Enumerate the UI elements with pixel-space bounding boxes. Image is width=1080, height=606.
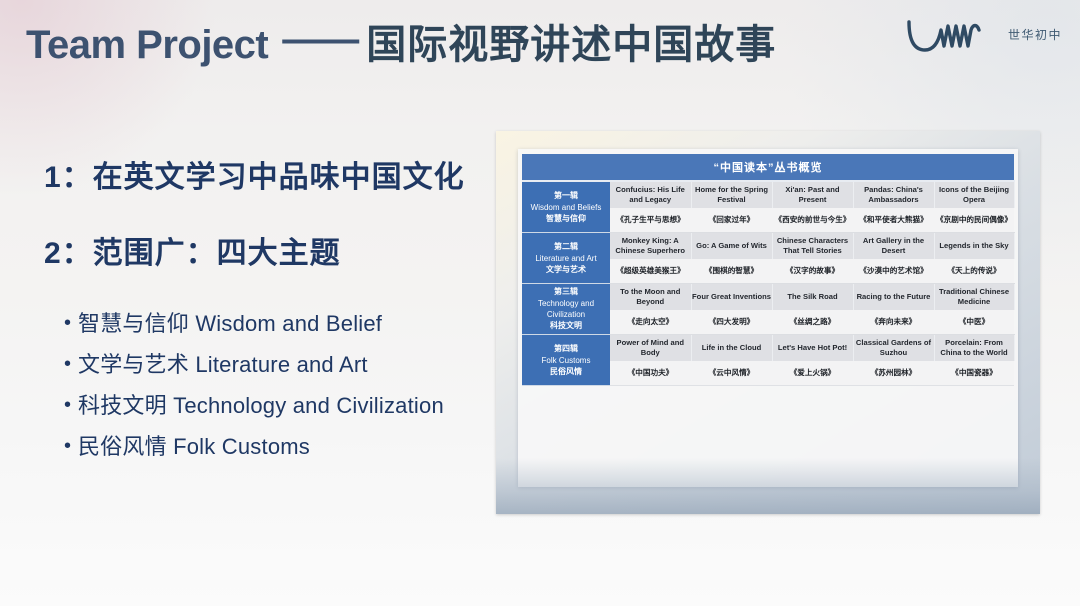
book-title-cn: 《超级英雄美猴王》	[610, 259, 691, 284]
book-title-cn: 《回家过年》	[691, 208, 772, 233]
category-cell: 第一辑 Wisdom and Beliefs 智慧与信仰	[522, 181, 610, 233]
wave-logo-icon	[903, 12, 999, 56]
book-title-cn: 《汉字的故事》	[772, 259, 853, 284]
book-title-cn: 《围棋的智慧》	[691, 259, 772, 284]
book-title-en: Pandas: China's Ambassadors	[853, 181, 934, 208]
book-title-en: Chinese Characters That Tell Stories	[772, 233, 853, 260]
book-title-cn: 《丝绸之路》	[772, 310, 853, 335]
list-item: • 民俗风情 Folk Customs	[64, 426, 504, 467]
headline-point-1: 1：在英文学习中品味中国文化	[44, 152, 465, 196]
category-english: Literature and Art	[522, 253, 610, 264]
book-title-cn: 《西安的前世与今生》	[772, 208, 853, 233]
brand-logo: 世华初中	[903, 12, 1062, 56]
book-title-en: Monkey King: A Chinese Superhero	[610, 233, 691, 260]
book-title-en: The Silk Road	[772, 284, 853, 311]
book-title-en: To the Moon and Beyond	[610, 284, 691, 311]
list-item-label: 科技文明 Technology and Civilization	[78, 385, 444, 426]
book-title-en: Confucius: His Life and Legacy	[610, 181, 691, 208]
book-title-cn: 《天上的传说》	[934, 259, 1014, 284]
category-chinese: 文学与艺术	[522, 264, 610, 276]
book-series-sheet: “中国读本”丛书概览 第一辑 Wisdom and Beliefs 智慧与信仰 …	[518, 149, 1018, 487]
category-cell: 第二辑 Literature and Art 文学与艺术	[522, 233, 610, 284]
book-title-en: Four Great Inventions	[691, 284, 772, 311]
category-english: Folk Customs	[522, 355, 610, 366]
category-series: 第一辑	[522, 190, 610, 202]
category-chinese: 民俗风情	[522, 366, 610, 378]
book-title-cn: 《四大发明》	[691, 310, 772, 335]
book-title-en: Classical Gardens of Suzhou	[853, 335, 934, 362]
category-english: Wisdom and Beliefs	[522, 202, 610, 213]
book-title-cn: 《孔子生平与思想》	[610, 208, 691, 233]
book-title-en: Art Gallery in the Desert	[853, 233, 934, 260]
category-series: 第二辑	[522, 241, 610, 253]
table-row: 第一辑 Wisdom and Beliefs 智慧与信仰 Confucius: …	[522, 181, 1014, 208]
book-title-en: Home for the Spring Festival	[691, 181, 772, 208]
book-title-cn: 《中国功夫》	[610, 361, 691, 386]
bullet-dot-icon: •	[64, 426, 78, 467]
book-title-cn: 《爱上火锅》	[772, 361, 853, 386]
book-title-cn: 《中医》	[934, 310, 1014, 335]
book-title-en: Legends in the Sky	[934, 233, 1014, 260]
book-title-en: Power of Mind and Body	[610, 335, 691, 362]
category-cell: 第三辑 Technology and Civilization 科技文明	[522, 284, 610, 335]
list-item-label: 文学与艺术 Literature and Art	[78, 344, 368, 385]
table-row: 第四辑 Folk Customs 民俗风情 Power of Mind and …	[522, 335, 1014, 362]
book-title-cn: 《沙漠中的艺术馆》	[853, 259, 934, 284]
category-series: 第三辑	[522, 286, 610, 298]
table-title: “中国读本”丛书概览	[522, 154, 1014, 181]
category-chinese: 科技文明	[522, 320, 610, 332]
category-english: Technology and Civilization	[522, 298, 610, 320]
table-row: 第二辑 Literature and Art 文学与艺术 Monkey King…	[522, 233, 1014, 260]
book-title-en: Go: A Game of Wits	[691, 233, 772, 260]
book-title-en: Life in the Cloud	[691, 335, 772, 362]
list-item: • 科技文明 Technology and Civilization	[64, 385, 504, 426]
book-title-en: Traditional Chinese Medicine	[934, 284, 1014, 311]
book-title-en: Let's Have Hot Pot!	[772, 335, 853, 362]
book-title-cn: 《苏州园林》	[853, 361, 934, 386]
book-title-en: Xi'an: Past and Present	[772, 181, 853, 208]
category-series: 第四辑	[522, 343, 610, 355]
list-item: • 智慧与信仰 Wisdom and Belief	[64, 303, 504, 344]
category-cell: 第四辑 Folk Customs 民俗风情	[522, 335, 610, 386]
list-item: • 文学与艺术 Literature and Art	[64, 344, 504, 385]
left-content: 1：在英文学习中品味中国文化 2：范围广：四大主题 • 智慧与信仰 Wisdom…	[0, 0, 500, 606]
table-row: 第三辑 Technology and Civilization 科技文明 To …	[522, 284, 1014, 311]
book-title-cn: 《奔向未来》	[853, 310, 934, 335]
book-title-cn: 《中国瓷器》	[934, 361, 1014, 386]
bullet-dot-icon: •	[64, 385, 78, 426]
category-chinese: 智慧与信仰	[522, 213, 610, 225]
book-title-en: Racing to the Future	[853, 284, 934, 311]
book-title-cn: 《和平使者大熊猫》	[853, 208, 934, 233]
theme-bullet-list: • 智慧与信仰 Wisdom and Belief • 文学与艺术 Litera…	[64, 303, 504, 467]
book-title-cn: 《云中风情》	[691, 361, 772, 386]
list-item-label: 智慧与信仰 Wisdom and Belief	[78, 303, 382, 344]
book-series-table: “中国读本”丛书概览 第一辑 Wisdom and Beliefs 智慧与信仰 …	[522, 154, 1015, 386]
book-title-cn: 《走向太空》	[610, 310, 691, 335]
book-series-photo: “中国读本”丛书概览 第一辑 Wisdom and Beliefs 智慧与信仰 …	[496, 131, 1040, 514]
slide: Team Project —— 国际视野讲述中国故事 世华初中 1：在英文学习中…	[0, 0, 1080, 606]
book-title-en: Icons of the Beijing Opera	[934, 181, 1014, 208]
bullet-dot-icon: •	[64, 303, 78, 344]
book-title-en: Porcelain: From China to the World	[934, 335, 1014, 362]
table-title-row: “中国读本”丛书概览	[522, 154, 1014, 181]
bullet-dot-icon: •	[64, 344, 78, 385]
headline-point-2: 2：范围广：四大主题	[44, 228, 341, 272]
book-title-cn: 《京剧中的民间偶像》	[934, 208, 1014, 233]
list-item-label: 民俗风情 Folk Customs	[78, 426, 310, 467]
brand-logo-text: 世华初中	[1008, 26, 1062, 43]
